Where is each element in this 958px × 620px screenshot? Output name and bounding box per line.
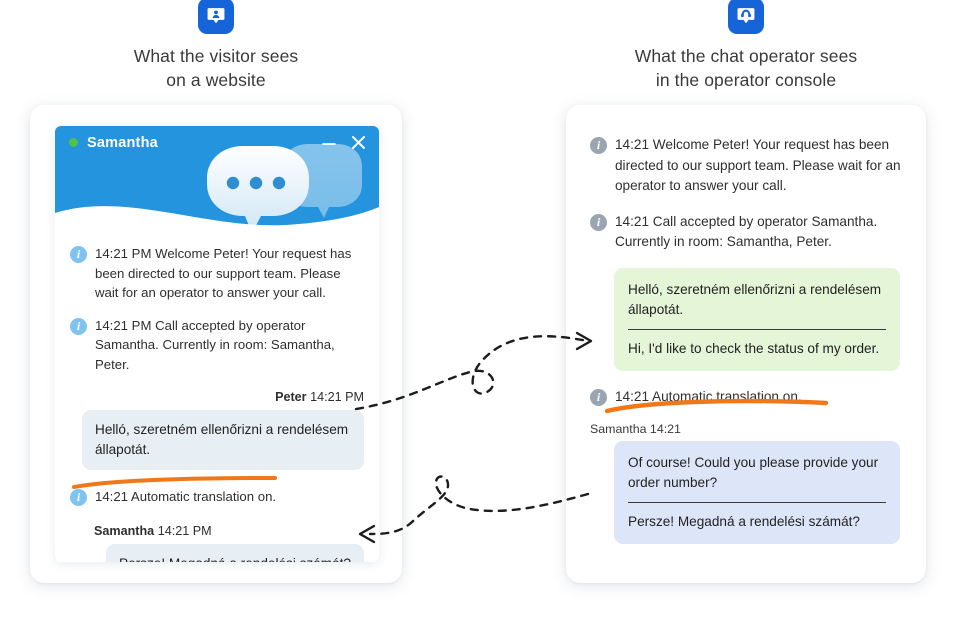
connector-arrow-down bbox=[370, 477, 588, 535]
close-icon[interactable] bbox=[350, 134, 367, 151]
system-message-translation: i 14:21 Automatic translation on. bbox=[70, 487, 364, 507]
operator-console: i 14:21 Welcome Peter! Your request has … bbox=[566, 105, 926, 583]
message-bubble: Helló, szeretném ellenőrizni a rendelése… bbox=[82, 410, 364, 470]
message-meta: Peter 14:21 PM bbox=[70, 390, 364, 404]
info-icon: i bbox=[590, 214, 607, 231]
info-icon: i bbox=[70, 318, 87, 335]
visitor-translated-message: Helló, szeretném ellenőrizni a rendelése… bbox=[614, 268, 902, 371]
left-column-title-line1: What the visitor sees bbox=[40, 44, 392, 68]
system-message-text: 14:21 PM Call accepted by operator Saman… bbox=[95, 316, 364, 375]
message-time: 14:21 PM bbox=[310, 390, 364, 404]
operator-message-block: Samantha 14:21 PM Persze! Megadná a rend… bbox=[70, 524, 364, 563]
message-author: Peter bbox=[275, 390, 307, 404]
widget-message-list: i 14:21 PM Welcome Peter! Your request h… bbox=[55, 230, 379, 562]
message-original-text: Helló, szeretném ellenőrizni a rendelése… bbox=[628, 280, 886, 320]
system-message-text: 14:21 Automatic translation on. bbox=[95, 487, 276, 507]
visitor-message-block: Peter 14:21 PM Helló, szeretném ellenőri… bbox=[70, 390, 364, 470]
visitor-chat-widget: Samantha i 14:21 PM Welcome Peter! Your … bbox=[55, 126, 379, 562]
system-message-call-accepted: i 14:21 PM Call accepted by operator Sam… bbox=[70, 316, 364, 375]
info-icon: i bbox=[70, 246, 87, 263]
message-meta: Samantha 14:21 PM bbox=[70, 524, 364, 538]
message-meta: Samantha 14:21 bbox=[590, 422, 902, 436]
operator-translated-message: Samantha 14:21 Of course! Could you plea… bbox=[590, 422, 902, 544]
translation-divider bbox=[628, 502, 886, 503]
message-translated-text: Persze! Megadná a rendelési számát? bbox=[628, 512, 886, 532]
system-message-translation: i 14:21 Automatic translation on. bbox=[590, 387, 902, 407]
system-message-text: 14:21 Automatic translation on. bbox=[615, 387, 802, 407]
info-icon: i bbox=[590, 137, 607, 154]
online-status-dot bbox=[69, 138, 78, 147]
message-time: 14:21 PM bbox=[158, 524, 212, 538]
system-message-welcome: i 14:21 PM Welcome Peter! Your request h… bbox=[70, 244, 364, 303]
operator-headset-icon bbox=[728, 0, 764, 34]
right-column-header: What the chat operator sees in the opera… bbox=[570, 0, 922, 92]
message-bubble: Persze! Megadná a rendelési számát? bbox=[106, 544, 364, 563]
widget-banner: Samantha bbox=[55, 126, 379, 230]
system-message-welcome: i 14:21 Welcome Peter! Your request has … bbox=[590, 135, 902, 197]
system-message-text: 14:21 Call accepted by operator Samantha… bbox=[615, 212, 902, 253]
left-column-header: What the visitor sees on a website bbox=[40, 0, 392, 92]
translation-divider bbox=[628, 329, 886, 330]
widget-operator-name: Samantha bbox=[87, 135, 158, 151]
right-column-title-line2: in the operator console bbox=[570, 68, 922, 92]
visitor-badge-icon bbox=[198, 0, 234, 34]
info-icon: i bbox=[590, 389, 607, 406]
message-translated-text: Hi, I'd like to check the status of my o… bbox=[628, 339, 886, 359]
left-column-title-line2: on a website bbox=[40, 68, 392, 92]
message-author: Samantha bbox=[94, 524, 154, 538]
banner-wave-divider bbox=[55, 195, 379, 230]
info-icon: i bbox=[70, 489, 87, 506]
system-message-text: 14:21 PM Welcome Peter! Your request has… bbox=[95, 244, 364, 303]
system-message-text: 14:21 Welcome Peter! Your request has be… bbox=[615, 135, 902, 197]
widget-titlebar: Samantha bbox=[55, 126, 379, 159]
minimize-icon[interactable] bbox=[321, 135, 337, 151]
message-original-text: Of course! Could you please provide your… bbox=[628, 453, 886, 493]
comparison-diagram: What the visitor sees on a website What … bbox=[0, 0, 958, 620]
right-column-title-line1: What the chat operator sees bbox=[570, 44, 922, 68]
system-message-call-accepted: i 14:21 Call accepted by operator Samant… bbox=[590, 212, 902, 253]
